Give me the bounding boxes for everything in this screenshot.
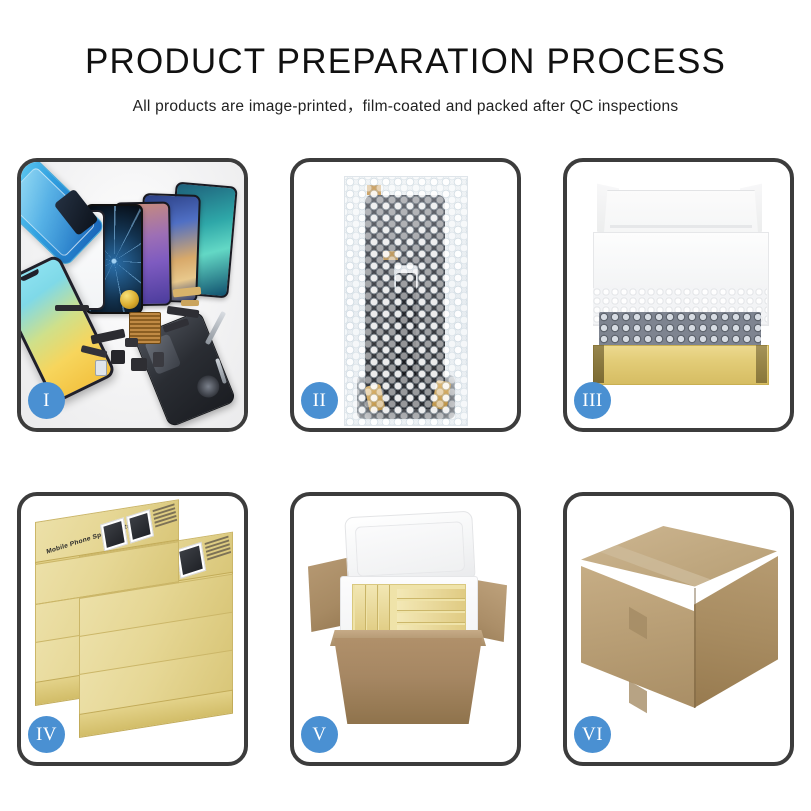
step-panel-6: VI [563, 492, 794, 766]
step-badge-2: II [301, 382, 338, 419]
camera-module-part-icon [131, 358, 147, 371]
page-title: PRODUCT PREPARATION PROCESS [0, 44, 811, 79]
small-module-part-icon [125, 338, 138, 347]
step-panel-3: III [563, 158, 794, 432]
step-badge-1: I [28, 382, 65, 419]
small-module-part-icon [111, 350, 125, 364]
page-subtitle: All products are image-printed，film-coat… [0, 94, 811, 116]
battery-connector-part-icon [153, 352, 164, 367]
carton-body-icon [334, 638, 482, 724]
sim-tray-part-icon [95, 360, 107, 376]
step-badge-6: VI [574, 716, 611, 753]
box-spec-lines [205, 536, 232, 563]
step-panel-2: II [290, 158, 521, 432]
speaker-mesh-part-icon [55, 305, 89, 311]
step-badge-4: IV [28, 716, 65, 753]
gold-round-part-icon [120, 290, 139, 309]
box-edge-left-icon [593, 345, 604, 383]
step-badge-3: III [574, 382, 611, 419]
step-panel-1: I [17, 158, 248, 432]
step-badge-5: V [301, 716, 338, 753]
carton-corner-seam [694, 588, 696, 708]
page-header: PRODUCT PREPARATION PROCESS All products… [0, 0, 811, 116]
step-panel-5: V [290, 492, 521, 766]
box-product-image [100, 517, 128, 551]
box-stack-icon: Mobile Phone Spare Parts Mobile Phon [31, 512, 235, 728]
bubble-wrap-layer-icon [599, 312, 761, 348]
bubble-wrap-bag-icon [344, 176, 468, 426]
gold-connector-part-icon [181, 300, 199, 306]
shipping-carton-icon [581, 526, 777, 726]
box-product-image [176, 542, 206, 579]
bubble-texture-overlay-icon [345, 177, 467, 425]
yellow-box-front-icon [593, 345, 769, 385]
notch-icon [21, 269, 40, 282]
step-panel-4: Mobile Phone Spare Parts Mobile Phon [17, 492, 248, 766]
product-preparation-page: PRODUCT PREPARATION PROCESS All products… [0, 0, 811, 811]
box-product-image [126, 509, 154, 543]
process-step-grid: I II [17, 158, 795, 766]
box-edge-right-icon [756, 345, 767, 383]
box-spec-lines [153, 503, 178, 529]
